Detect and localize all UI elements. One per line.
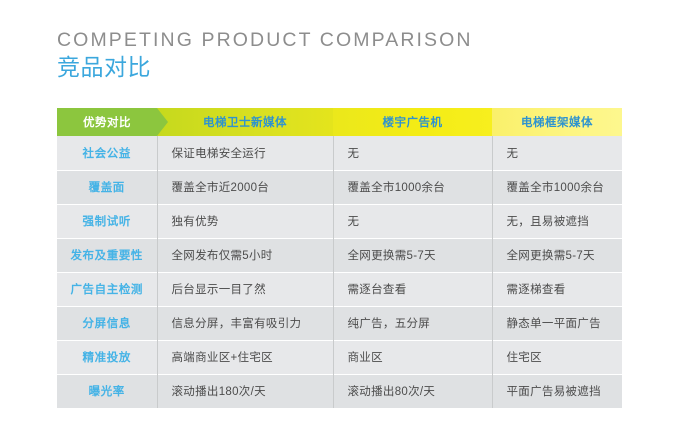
table-row-label: 社会公益	[57, 136, 157, 170]
table-cell-value: 信息分屏，丰富有吸引力	[157, 306, 333, 340]
table-row: 发布及重要性全网发布仅需5小时全网更换需5-7天全网更换需5-7天	[57, 238, 622, 272]
table-cell-value: 全网发布仅需5小时	[157, 238, 333, 272]
table-cell-value: 纯广告，五分屏	[333, 306, 492, 340]
table-row-label: 覆盖面	[57, 170, 157, 204]
table-body: 社会公益保证电梯安全运行无无覆盖面覆盖全市近2000台覆盖全市1000余台覆盖全…	[57, 136, 622, 408]
table-cell-value: 无	[333, 204, 492, 238]
table-cell-value: 住宅区	[492, 340, 622, 374]
table-cell-value: 覆盖全市1000余台	[333, 170, 492, 204]
table-header-cell-criteria: 优势对比	[57, 108, 157, 136]
table-header-cell-product-1: 电梯卫士新媒体	[157, 108, 333, 136]
table-row: 覆盖面覆盖全市近2000台覆盖全市1000余台覆盖全市1000余台	[57, 170, 622, 204]
table-row: 精准投放高端商业区+住宅区商业区住宅区	[57, 340, 622, 374]
table-header: 优势对比 电梯卫士新媒体 楼宇广告机 电梯框架媒体	[57, 108, 622, 136]
table-header-cell-product-2: 楼宇广告机	[333, 108, 492, 136]
table-row: 广告自主检测后台显示一目了然需逐台查看需逐梯查看	[57, 272, 622, 306]
table-row: 曝光率滚动播出180次/天滚动播出80次/天平面广告易被遮挡	[57, 374, 622, 408]
table-cell-value: 商业区	[333, 340, 492, 374]
table-cell-value: 无	[333, 136, 492, 170]
table-row-label: 分屏信息	[57, 306, 157, 340]
table-cell-value: 高端商业区+住宅区	[157, 340, 333, 374]
table-row: 分屏信息信息分屏，丰富有吸引力纯广告，五分屏静态单一平面广告	[57, 306, 622, 340]
table-cell-value: 全网更换需5-7天	[333, 238, 492, 272]
table-cell-value: 需逐台查看	[333, 272, 492, 306]
table-cell-value: 覆盖全市近2000台	[157, 170, 333, 204]
table-cell-value: 独有优势	[157, 204, 333, 238]
page-title-english: COMPETING PRODUCT COMPARISON	[57, 27, 473, 53]
table-header-label-criteria: 优势对比	[83, 117, 131, 129]
table-cell-value: 无	[492, 136, 622, 170]
table-cell-value: 覆盖全市1000余台	[492, 170, 622, 204]
table-row-label: 精准投放	[57, 340, 157, 374]
table-row-label: 强制试听	[57, 204, 157, 238]
table-cell-value: 滚动播出180次/天	[157, 374, 333, 408]
table-cell-value: 全网更换需5-7天	[492, 238, 622, 272]
chevron-right-icon	[157, 108, 168, 136]
table-header-cell-product-3: 电梯框架媒体	[492, 108, 622, 136]
table-row: 社会公益保证电梯安全运行无无	[57, 136, 622, 170]
table-cell-value: 保证电梯安全运行	[157, 136, 333, 170]
table-row-label: 广告自主检测	[57, 272, 157, 306]
table-cell-value: 无，且易被遮挡	[492, 204, 622, 238]
table-cell-value: 滚动播出80次/天	[333, 374, 492, 408]
table-cell-value: 需逐梯查看	[492, 272, 622, 306]
page-title-block: COMPETING PRODUCT COMPARISON 竞品对比	[57, 27, 473, 82]
table-cell-value: 后台显示一目了然	[157, 272, 333, 306]
table-cell-value: 静态单一平面广告	[492, 306, 622, 340]
table-row: 强制试听独有优势无无，且易被遮挡	[57, 204, 622, 238]
table-row-label: 曝光率	[57, 374, 157, 408]
table-row-label: 发布及重要性	[57, 238, 157, 272]
competing-product-comparison-table: 优势对比 电梯卫士新媒体 楼宇广告机 电梯框架媒体 社会公益保证电梯安全运行无无…	[57, 108, 622, 408]
table-cell-value: 平面广告易被遮挡	[492, 374, 622, 408]
page-title-chinese: 竞品对比	[57, 52, 473, 82]
table-header-row: 优势对比 电梯卫士新媒体 楼宇广告机 电梯框架媒体	[57, 108, 622, 136]
